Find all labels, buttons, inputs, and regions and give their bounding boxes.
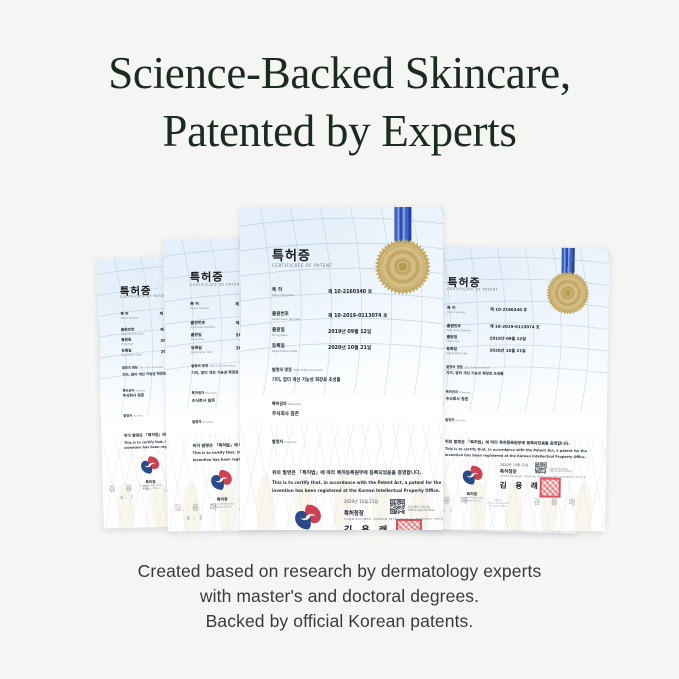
certificate-field-label: 특 허Patent Number <box>190 301 209 310</box>
inventor-label: 발명자 Inventor <box>272 439 297 445</box>
patentee-label: 특허권자 Patentee <box>446 389 470 394</box>
watermark-signature-left: 김 용 래 <box>108 483 153 494</box>
watermark-signature-right: 김 용 래 <box>533 496 579 508</box>
certificate-field-label: 출원번호Application Number <box>272 311 301 321</box>
certificate-field-value: 2019년 09월 12일 <box>328 328 371 335</box>
certificate-field-value: 2020년 10월 21일 <box>328 344 371 351</box>
barcode-mark <box>443 509 445 512</box>
invention-label: 발명의 명칭 Title of the Invention <box>272 367 323 373</box>
taegeuk-logo-icon <box>294 503 322 530</box>
certificate-field-label: 출원번호Application Number <box>121 327 144 336</box>
certificate-field-value: 제 10-2160340 호 <box>490 306 527 313</box>
invention-label: 발명의 명칭 Title of the Invention <box>446 364 489 370</box>
certificate-field-label: 출원일Filing Date <box>191 332 204 341</box>
invention-label: 발명의 명칭 Title of the Invention <box>191 363 235 369</box>
certificate-field-value: 2020년 10월 21일 <box>489 347 525 354</box>
issue-date: 2020년 10월 21일 <box>500 462 529 467</box>
invention-value: 기미, 잡티 개선 기능성 화장료 조성물 <box>272 377 340 383</box>
qr-note-en: Official Seal Omitted <box>408 509 435 512</box>
certificate-field-label: 출원일Filing Date <box>272 327 287 337</box>
qr-note-en: Official Seal Omitted <box>549 470 571 473</box>
certificate-footer: 특허청Korean IntellectualProperty Office <box>473 500 522 509</box>
watermark-signature-left: 김 용 래 <box>174 501 221 513</box>
barcode-mark <box>200 515 202 520</box>
certificate-field-label: 등록일Registration Date <box>446 346 467 355</box>
patentee-label: 특허권자 Patentee <box>272 401 301 407</box>
certificate-title-en: CERTIFICATE OF PATENT <box>190 282 242 287</box>
qr-code-icon <box>390 499 405 514</box>
certificate-field-value: 제 10-2019-0113074 호 <box>490 324 540 331</box>
certificate-field-value: 2019년 09월 12일 <box>490 336 526 343</box>
certificate-field-label: 등록일Registration Date <box>121 348 141 357</box>
patentee-label: 특허권자 Patentee <box>122 387 145 393</box>
certificate-field-label: 특 허Patent Number <box>120 311 138 319</box>
barcode-mark <box>120 496 123 499</box>
qr-code-icon <box>535 462 547 474</box>
patent-certificate[interactable]: 특허증CERTIFICATE OF PATENT특 허Patent Number… <box>419 246 609 532</box>
certify-statement-ko: 위의 발명은 「특허법」에 따라 특허등록원부에 등록되었음을 증명합니다. <box>272 469 421 476</box>
inventor-label: 발명자 Inventor <box>123 412 143 418</box>
certificate-title-ko: 특허증 <box>272 245 311 264</box>
certificate-field-label: 출원일Filing Date <box>447 334 460 343</box>
taegeuk-logo-icon <box>461 464 483 486</box>
commissioner-signature: 김 용 래 <box>500 479 541 491</box>
patentee-value: 주식회사 참존 <box>123 394 145 400</box>
certificate-title-en: CERTIFICATE OF PATENT <box>447 287 498 292</box>
patentee-value: 주식회사 참존 <box>192 397 215 403</box>
page-caption: Created based on research by dermatology… <box>0 559 679 634</box>
taegeuk-logo-icon <box>140 455 160 475</box>
certificate-field-label: 출원번호Application Number <box>447 322 471 331</box>
gold-seal-disc <box>545 271 590 316</box>
certificate-field-label: 등록일Registration Date <box>191 344 213 353</box>
inventor-label: 발명자 Inventor <box>445 417 466 422</box>
gold-seal-medal <box>374 207 432 323</box>
official-red-seal-stamp <box>540 477 561 498</box>
gold-seal-medal <box>545 246 591 337</box>
gold-seal-disc <box>374 238 432 296</box>
inventor-label: 발명자 Inventor <box>192 419 213 424</box>
invention-value: 기미, 잡티 개선 기능성 화장료 조성물 <box>446 371 504 377</box>
certify-statement-en-1: This is to certify that, in accordance w… <box>272 480 441 485</box>
certificate-field-label: 특 허Patent Number <box>447 305 466 314</box>
certificate-title-en: CERTIFICATE OF PATENT <box>272 263 333 268</box>
official-red-seal-stamp <box>396 519 422 530</box>
commissioner-title-en: COMMISSIONER, KOREAN INTELLECTUAL PROPER… <box>344 517 443 521</box>
certificate-field-label: 특 허Patent Number <box>272 287 294 297</box>
certificate-field-value: 제 10-2160340 호 <box>328 288 372 295</box>
patent-certificate[interactable]: 특허증CERTIFICATE OF PATENT특 허Patent Number… <box>240 207 443 530</box>
certificate-field-label: 출원일Filing Date <box>121 338 134 346</box>
certify-statement-en-2: invention has been registered at the Kor… <box>272 488 440 493</box>
patent-certificate-group: 특허증CERTIFICATE OF PATENT특 허Patent Number… <box>0 185 679 535</box>
commissioner-signature: 김 용 래 <box>344 523 390 530</box>
page-title: Science-Backed Skincare, Patented by Exp… <box>0 44 679 160</box>
patentee-label: 특허권자 Patentee <box>192 390 217 395</box>
taegeuk-logo-icon <box>210 469 233 492</box>
kipo-emblem: 특허청Korean IntellectualProperty Office <box>286 503 330 530</box>
patentee-value: 주식회사 참존 <box>272 411 299 417</box>
patentee-value: 주식회사 참존 <box>446 396 469 402</box>
certificate-field-label: 출원번호Application Number <box>190 320 215 329</box>
issue-date: 2020년 10월 21일 <box>344 499 378 505</box>
certificate-field-label: 등록일Registration Date <box>272 343 297 353</box>
commissioner-title-ko: 특허청장 <box>344 509 364 517</box>
